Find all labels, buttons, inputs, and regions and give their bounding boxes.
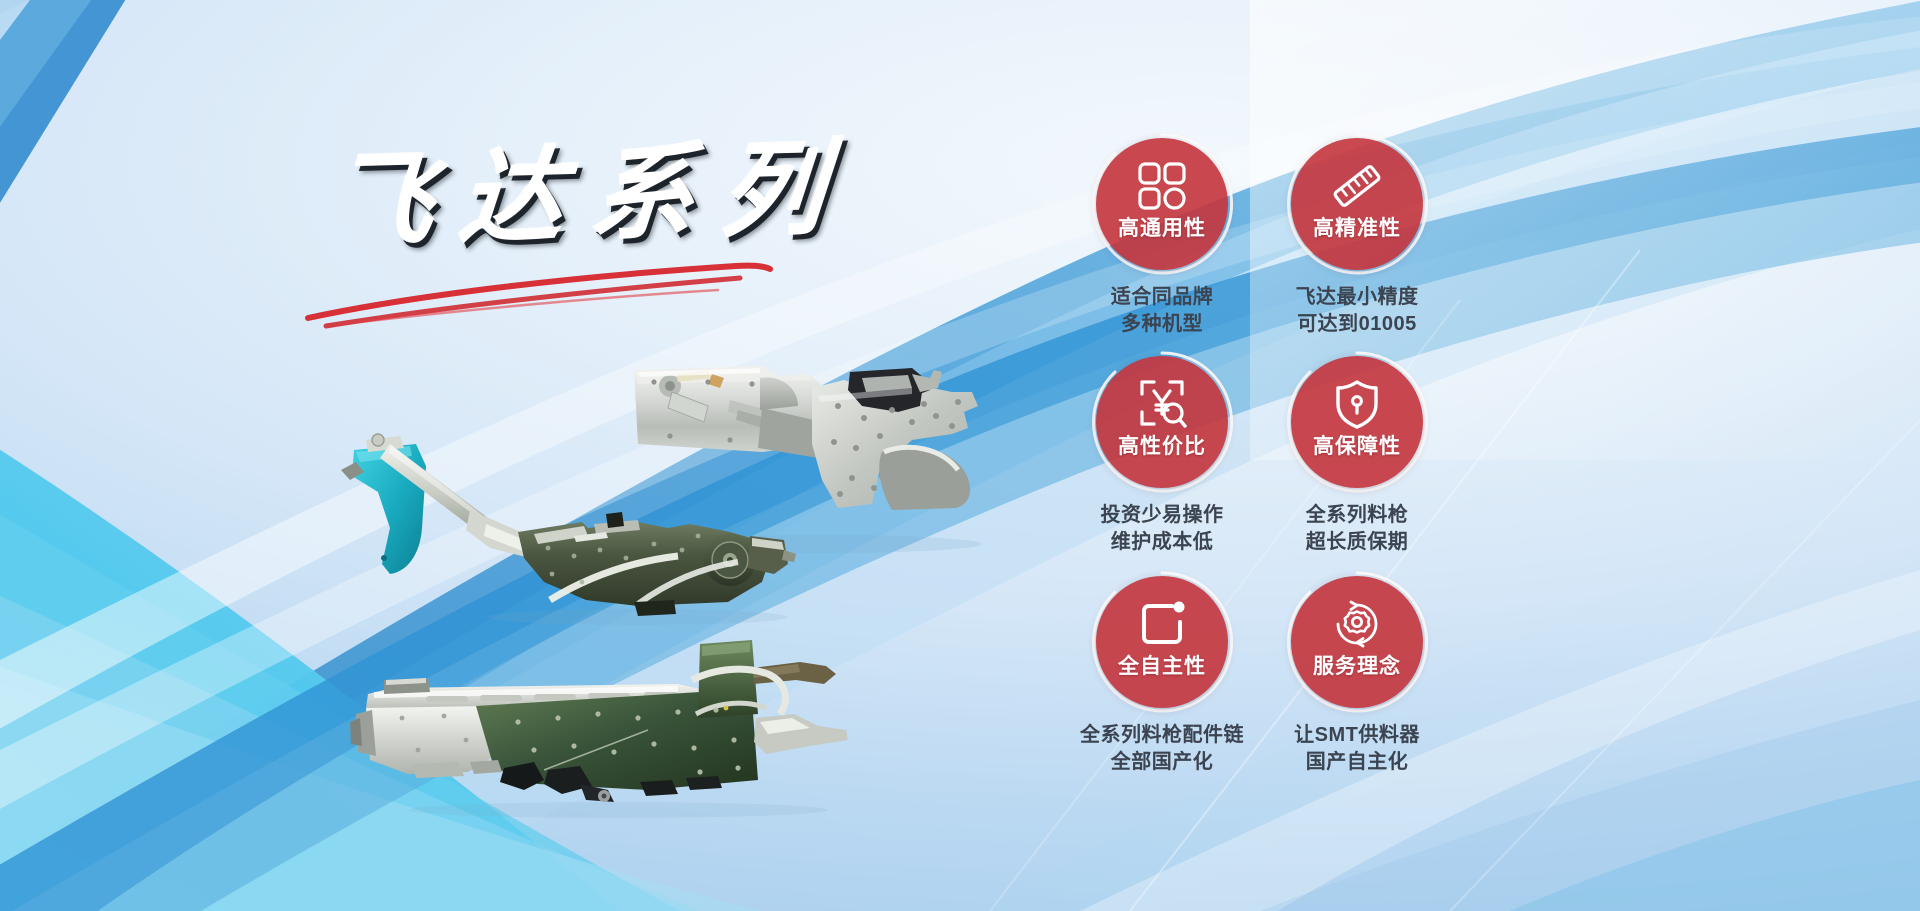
badge-label: 高保障性 (1313, 436, 1401, 457)
badge-circle: 高通用性 (1096, 138, 1228, 270)
title-underline-brush (300, 260, 820, 330)
badge-caption: 适合同品牌 多种机型 (1062, 284, 1262, 338)
badge-circle: 服务理念 (1291, 576, 1423, 708)
badge-circle: 高精准性 (1291, 138, 1423, 270)
shield-lock-icon (1331, 378, 1383, 430)
badge-caption: 全系列料枪配件链 全部国产化 (1062, 722, 1262, 776)
badge-caption-line-2: 国产自主化 (1257, 749, 1457, 776)
title-block: 飞达系列 (300, 140, 880, 370)
badge-circle: 高保障性 (1291, 356, 1423, 488)
badge-caption-line-1: 全系列料枪配件链 (1062, 722, 1262, 749)
badge-caption-line-1: 投资少易操作 (1062, 502, 1262, 529)
ruler-icon (1331, 160, 1383, 212)
bracket-dot-icon (1136, 598, 1188, 650)
badge-caption-line-2: 全部国产化 (1062, 749, 1262, 776)
badge-caption: 投资少易操作 维护成本低 (1062, 502, 1262, 556)
badge-caption: 让SMT供料器 国产自主化 (1257, 722, 1457, 776)
badge-caption: 飞达最小精度 可达到01005 (1257, 284, 1457, 338)
feature-badge-high-warranty[interactable]: 高保障性 全系列料枪 超长质保期 (1257, 356, 1457, 556)
badge-label: 服务理念 (1313, 656, 1401, 677)
badge-circle-wrap: 全自主性 (1096, 576, 1228, 708)
product-long-smt-feeder (348, 622, 858, 822)
product-green-smt-feeder (338, 432, 798, 632)
badge-circle-wrap: 高精准性 (1291, 138, 1423, 270)
badge-label: 全自主性 (1118, 656, 1206, 677)
badge-circle-wrap: 高性价比 (1096, 356, 1228, 488)
banner-stage: 飞达系列 (0, 0, 1920, 911)
page-title: 飞达系列 (325, 133, 855, 257)
four-squares-grid-icon (1136, 160, 1188, 212)
feature-badge-full-autonomy[interactable]: 全自主性 全系列料枪配件链 全部国产化 (1062, 576, 1262, 776)
feature-badge-service-concept[interactable]: 服务理念 让SMT供料器 国产自主化 (1257, 576, 1457, 776)
badge-circle-wrap: 高保障性 (1291, 356, 1423, 488)
badge-caption-line-1: 适合同品牌 (1062, 284, 1262, 311)
feature-badge-high-precision[interactable]: 高精准性 飞达最小精度 可达到01005 (1257, 138, 1457, 338)
badge-caption-line-1: 让SMT供料器 (1257, 722, 1457, 749)
badge-caption-line-1: 全系列料枪 (1257, 502, 1457, 529)
feature-badge-high-versatility[interactable]: 高通用性 适合同品牌 多种机型 (1062, 138, 1262, 338)
badge-caption-line-1: 飞达最小精度 (1257, 284, 1457, 311)
badge-circle: 全自主性 (1096, 576, 1228, 708)
yuan-price-search-icon (1136, 378, 1188, 430)
badge-label: 高通用性 (1118, 218, 1206, 239)
feature-badge-grid: 高通用性 适合同品牌 多种机型 (1062, 138, 1482, 858)
badge-caption-line-2: 可达到01005 (1257, 311, 1457, 338)
badge-caption-line-2: 维护成本低 (1062, 529, 1262, 556)
badge-label: 高性价比 (1118, 436, 1206, 457)
badge-label: 高精准性 (1313, 218, 1401, 239)
badge-caption-line-2: 超长质保期 (1257, 529, 1457, 556)
gear-refresh-icon (1331, 598, 1383, 650)
badge-circle-wrap: 高通用性 (1096, 138, 1228, 270)
badge-circle: 高性价比 (1096, 356, 1228, 488)
badge-circle-wrap: 服务理念 (1291, 576, 1423, 708)
feature-badge-cost-performance[interactable]: 高性价比 投资少易操作 维护成本低 (1062, 356, 1262, 556)
badge-caption-line-2: 多种机型 (1062, 311, 1262, 338)
badge-caption: 全系列料枪 超长质保期 (1257, 502, 1457, 556)
